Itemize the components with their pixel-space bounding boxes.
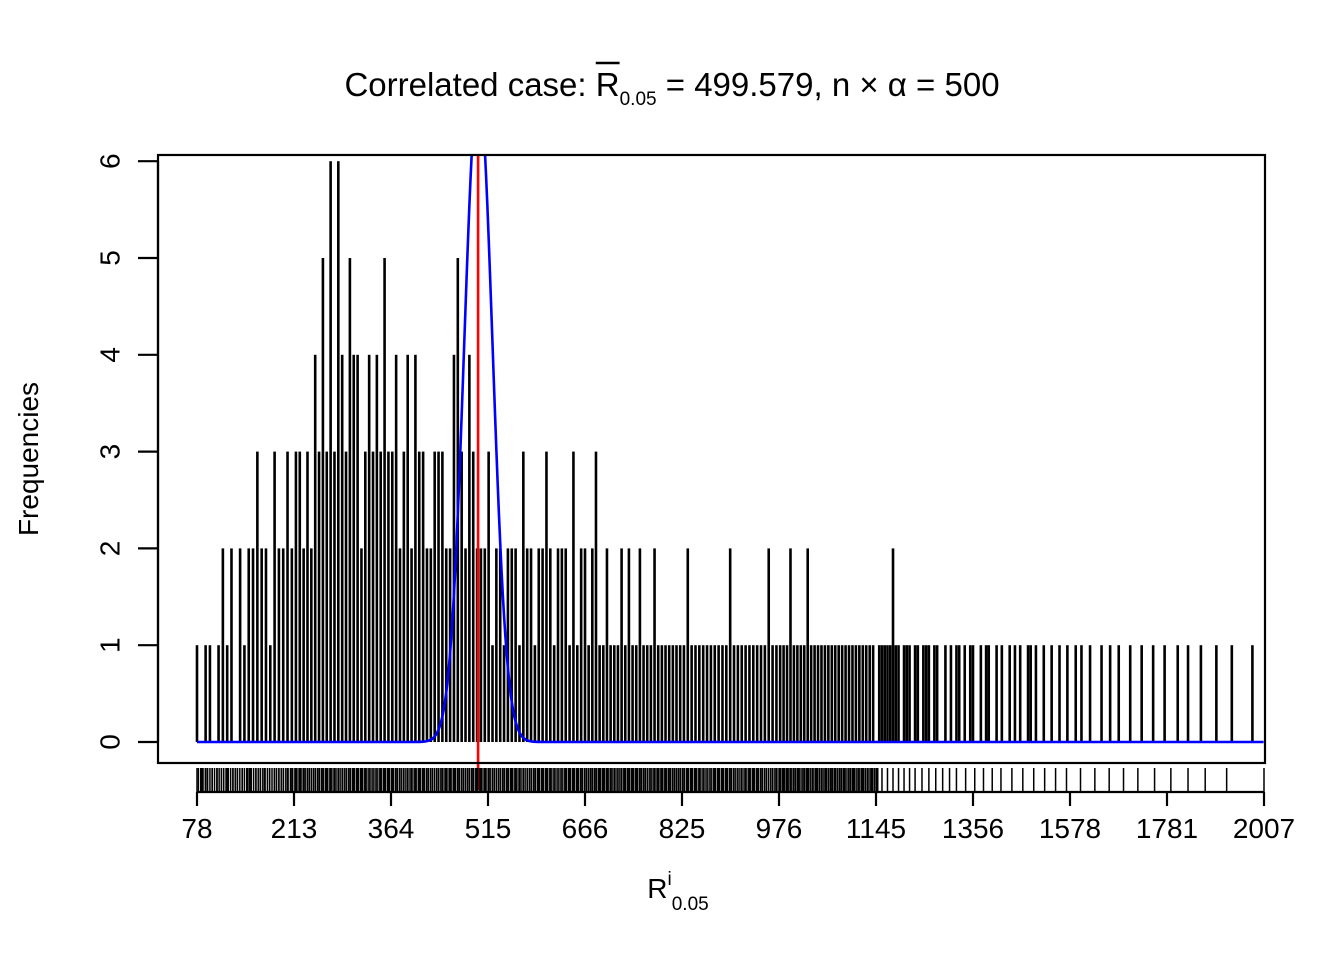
histogram-bar	[247, 548, 250, 742]
histogram-bar	[661, 645, 664, 742]
histogram-bar	[472, 452, 475, 742]
histogram-bar	[282, 548, 285, 742]
histogram-bar	[298, 452, 301, 742]
title-stat-value: 499.579	[694, 66, 813, 103]
histogram-bar	[445, 548, 448, 742]
histogram-bar	[372, 452, 375, 742]
histogram-bar	[922, 645, 925, 742]
histogram-bar	[764, 645, 767, 742]
x-axis-label-subscript: 0.05	[672, 894, 709, 915]
histogram-bar	[969, 645, 972, 742]
svg-text:Ri0.05: Ri0.05	[647, 869, 708, 915]
histogram-bar	[1231, 645, 1234, 742]
histogram-bar	[672, 645, 675, 742]
histogram-bar	[717, 645, 720, 742]
histogram-bar	[865, 645, 868, 742]
histogram-bar	[950, 645, 953, 742]
histogram-bar	[1029, 645, 1032, 742]
rug-plot	[197, 768, 1264, 792]
x-tick-label: 1145	[846, 813, 906, 844]
histogram-bar	[530, 548, 533, 742]
histogram-bar	[1109, 645, 1112, 742]
histogram-bar	[834, 645, 837, 742]
histogram-chart: Correlated case: R0.05 = 499.579, n × α …	[0, 0, 1344, 960]
histogram-bar	[855, 645, 858, 742]
histogram-bar	[441, 452, 444, 742]
histogram-bar	[985, 645, 988, 742]
y-axis: 0123456	[95, 153, 159, 749]
histogram-bar	[222, 548, 225, 742]
histogram-bar	[613, 645, 616, 742]
histogram-bar	[584, 548, 587, 742]
histogram-bar	[733, 645, 736, 742]
title-separator: ,	[813, 66, 831, 103]
histogram-bar	[1027, 645, 1030, 742]
histogram-bar	[740, 645, 743, 742]
histogram-bar	[252, 548, 255, 742]
histogram-bar	[1080, 645, 1083, 742]
histogram-bar	[406, 355, 409, 742]
histogram-bar	[349, 258, 352, 742]
histogram-bar	[376, 355, 379, 742]
histogram-bar	[196, 645, 199, 742]
histogram-bar	[958, 645, 961, 742]
histogram-bar	[1035, 645, 1038, 742]
histogram-bar	[491, 645, 494, 742]
histogram-bar	[230, 548, 233, 742]
histogram-bar	[480, 548, 483, 742]
histogram-bar	[302, 548, 305, 742]
histogram-bar	[1050, 645, 1053, 742]
x-axis-label: Ri0.05	[647, 869, 708, 915]
histogram-bar	[642, 645, 645, 742]
y-tick-label: 3	[95, 444, 126, 460]
histogram-bar	[894, 645, 897, 742]
histogram-bar	[414, 355, 417, 742]
histogram-bar	[903, 645, 906, 742]
histogram-bar	[862, 645, 865, 742]
histogram-bar	[690, 645, 693, 742]
histogram-bar	[1129, 645, 1132, 742]
histogram-bar	[881, 645, 884, 742]
y-tick-label: 2	[95, 541, 126, 557]
histogram-bar	[468, 355, 471, 742]
histogram-bar	[545, 452, 548, 742]
histogram-bar	[1100, 645, 1103, 742]
histogram-bar	[756, 645, 759, 742]
histogram-bar	[844, 645, 847, 742]
y-tick-label: 4	[95, 347, 126, 363]
title-equals-2: =	[907, 66, 945, 103]
histogram-bar	[1042, 645, 1045, 742]
histogram-bar	[487, 452, 490, 742]
histogram-bar	[725, 645, 728, 742]
x-axis: 7821336451566682597611451356157817812007	[181, 792, 1295, 844]
histogram-bar	[591, 548, 594, 742]
histogram-bar	[1140, 645, 1143, 742]
histogram-bar	[698, 645, 701, 742]
histogram-bar	[620, 548, 623, 742]
title-equals-1: =	[657, 66, 695, 103]
histogram-bar	[322, 258, 325, 742]
histogram-bar	[886, 645, 889, 742]
title-prefix: Correlated case:	[344, 66, 595, 103]
title-stat-symbol: R	[596, 66, 620, 103]
histogram-bar	[564, 548, 567, 742]
x-tick-label: 825	[659, 813, 706, 844]
histogram-bar	[329, 161, 332, 742]
histogram-bar	[868, 645, 871, 742]
histogram-bar	[721, 645, 724, 742]
histogram-bar	[1152, 645, 1155, 742]
histogram-bar	[653, 548, 656, 742]
histogram-bar	[426, 548, 429, 742]
histogram-bar	[824, 645, 827, 742]
histogram-bar	[925, 645, 928, 742]
histogram-bar	[345, 452, 348, 742]
histogram-bar	[204, 645, 207, 742]
histogram-bar	[883, 645, 886, 742]
histogram-bar	[286, 452, 289, 742]
histogram-bar	[337, 161, 340, 742]
histogram-bar	[702, 645, 705, 742]
histogram-bar	[848, 645, 851, 742]
histogram-bar	[1251, 645, 1254, 742]
histogram-bar	[602, 645, 605, 742]
histogram-bar	[858, 645, 861, 742]
histogram-bar	[522, 452, 525, 742]
histogram-bar	[325, 452, 328, 742]
histogram-bar	[914, 645, 917, 742]
histogram-bar	[368, 355, 371, 742]
histogram-bar	[789, 548, 792, 742]
histogram-bar	[851, 645, 854, 742]
histogram-bar	[679, 645, 682, 742]
histogram-bar	[483, 548, 486, 742]
histogram-bar	[364, 452, 367, 742]
histogram-bar	[906, 645, 909, 742]
histogram-bar	[657, 645, 660, 742]
x-tick-label: 515	[465, 813, 512, 844]
histogram-bar	[635, 645, 638, 742]
histogram-bar	[391, 452, 394, 742]
histogram-bar	[422, 452, 425, 742]
title-stat-subscript: 0.05	[620, 89, 657, 110]
histogram-bar	[568, 645, 571, 742]
histogram-bar	[987, 645, 990, 742]
histogram-bar	[572, 452, 575, 742]
histogram-bar	[1019, 645, 1022, 742]
histogram-bar	[737, 645, 740, 742]
histogram-bar	[729, 548, 732, 742]
histogram-bar	[963, 645, 966, 742]
histogram-bar	[606, 548, 609, 742]
x-tick-label: 364	[368, 813, 415, 844]
histogram-bar	[598, 645, 601, 742]
histogram-bar	[278, 548, 281, 742]
histogram-bar	[395, 355, 398, 742]
histogram-bar	[775, 645, 778, 742]
histogram-bar	[1187, 645, 1190, 742]
histogram-bar	[650, 645, 653, 742]
histogram-bar	[503, 645, 506, 742]
histogram-bar	[897, 645, 900, 742]
histogram-bar	[628, 548, 631, 742]
histogram-bar	[403, 452, 406, 742]
histogram-bar	[694, 645, 697, 742]
histogram-bar	[418, 452, 421, 742]
histogram-bar	[639, 548, 642, 742]
histogram-bar	[1176, 645, 1179, 742]
histogram-bar	[464, 548, 467, 742]
histogram-bar	[686, 548, 689, 742]
histogram-bar	[803, 645, 806, 742]
plot-figure: Correlated case: R0.05 = 499.579, n × α …	[0, 0, 1344, 960]
histogram-bar	[352, 355, 355, 742]
histogram-bar	[646, 645, 649, 742]
histogram-bar	[541, 548, 544, 742]
histogram-bars	[196, 161, 1254, 742]
histogram-bar	[534, 645, 537, 742]
histogram-bar	[209, 645, 212, 742]
histogram-bar	[609, 645, 612, 742]
histogram-bar	[256, 452, 259, 742]
histogram-bar	[664, 645, 667, 742]
histogram-bar	[878, 645, 881, 742]
histogram-bar	[748, 645, 751, 742]
histogram-bar	[980, 645, 983, 742]
histogram-bar	[295, 452, 298, 742]
x-tick-label: 1356	[942, 813, 1004, 844]
histogram-bar	[796, 645, 799, 742]
histogram-bar	[333, 452, 336, 742]
histogram-bar	[837, 645, 840, 742]
histogram-bar	[453, 355, 456, 742]
histogram-bar	[752, 645, 755, 742]
histogram-bar	[928, 645, 931, 742]
histogram-bar	[995, 645, 998, 742]
histogram-bar	[806, 548, 809, 742]
histogram-bar	[744, 645, 747, 742]
histogram-bar	[827, 645, 830, 742]
title-times: ×	[850, 66, 888, 103]
histogram-bar	[1200, 645, 1203, 742]
chart-title: Correlated case: R0.05 = 499.579, n × α …	[344, 63, 999, 110]
histogram-bar	[683, 645, 686, 742]
histogram-bar	[537, 548, 540, 742]
histogram-bar	[767, 548, 770, 742]
histogram-bar	[460, 452, 463, 742]
histogram-bar	[383, 258, 386, 742]
x-tick-label: 213	[271, 813, 318, 844]
histogram-bar	[972, 645, 975, 742]
x-tick-label: 976	[756, 813, 803, 844]
title-param-value: 500	[944, 66, 999, 103]
histogram-bar	[243, 645, 246, 742]
histogram-bar	[1215, 645, 1218, 742]
x-axis-label-symbol: R	[647, 873, 667, 904]
histogram-bar	[936, 645, 939, 742]
y-axis-label: Frequencies	[13, 382, 44, 536]
histogram-bar	[265, 548, 268, 742]
histogram-bar	[631, 645, 634, 742]
title-param-n: n	[832, 66, 850, 103]
histogram-bar	[430, 548, 433, 742]
histogram-bar	[314, 355, 317, 742]
histogram-bar	[387, 452, 390, 742]
y-tick-label: 1	[95, 637, 126, 653]
histogram-bar	[786, 645, 789, 742]
histogram-bar	[306, 452, 309, 742]
histogram-bar	[595, 452, 598, 742]
histogram-bar	[557, 548, 560, 742]
histogram-bar	[587, 645, 590, 742]
histogram-bar	[892, 548, 895, 742]
histogram-bar	[561, 548, 564, 742]
x-tick-label: 1781	[1136, 813, 1198, 844]
histogram-bar	[668, 645, 671, 742]
histogram-bar	[437, 452, 440, 742]
histogram-bar	[955, 645, 958, 742]
histogram-bar	[617, 645, 620, 742]
histogram-bar	[820, 645, 823, 742]
histogram-bar	[269, 645, 272, 742]
histogram-bar	[908, 645, 911, 742]
histogram-bar	[291, 548, 294, 742]
histogram-bar	[379, 452, 382, 742]
x-tick-label: 666	[562, 813, 609, 844]
histogram-bar	[831, 645, 834, 742]
histogram-bar	[273, 452, 276, 742]
histogram-bar	[793, 645, 796, 742]
histogram-bar	[760, 645, 763, 742]
x-tick-label: 1578	[1039, 813, 1101, 844]
histogram-bar	[310, 548, 313, 742]
histogram-bar	[260, 548, 263, 742]
histogram-bar	[226, 645, 229, 742]
histogram-bar	[779, 645, 782, 742]
histogram-bar	[706, 645, 709, 742]
histogram-bar	[399, 548, 402, 742]
histogram-bar	[933, 645, 936, 742]
histogram-bar	[1089, 645, 1092, 742]
histogram-bar	[1074, 645, 1077, 742]
histogram-bar	[318, 452, 321, 742]
histogram-bar	[217, 645, 220, 742]
title-param-alpha: α	[888, 66, 907, 103]
x-tick-label: 2007	[1233, 813, 1295, 844]
histogram-bar	[410, 548, 413, 742]
histogram-bar	[944, 645, 947, 742]
x-tick-label: 78	[181, 813, 212, 844]
histogram-bar	[917, 645, 920, 742]
histogram-bar	[356, 355, 359, 742]
histogram-bar	[580, 548, 583, 742]
x-axis-label-superscript: i	[668, 869, 672, 890]
histogram-bar	[817, 645, 820, 742]
histogram-bar	[782, 645, 785, 742]
histogram-bar	[1117, 645, 1120, 742]
histogram-bar	[526, 548, 529, 742]
histogram-bar	[1014, 645, 1017, 742]
histogram-bar	[1163, 645, 1166, 742]
histogram-bar	[810, 645, 813, 742]
histogram-bar	[771, 645, 774, 742]
histogram-bar	[1058, 645, 1061, 742]
y-tick-label: 5	[95, 250, 126, 266]
svg-text:Correlated case: R0.05 = 499.5: Correlated case: R0.05 = 499.579, n × α …	[344, 66, 999, 110]
histogram-bar	[576, 645, 579, 742]
histogram-bar	[1008, 645, 1011, 742]
histogram-bar	[433, 452, 436, 742]
histogram-bar	[800, 645, 803, 742]
histogram-bar	[889, 645, 892, 742]
histogram-bar	[549, 548, 552, 742]
histogram-bar	[1066, 645, 1069, 742]
histogram-bar	[341, 355, 344, 742]
y-tick-label: 0	[95, 734, 126, 750]
histogram-bar	[360, 548, 363, 742]
histogram-bar	[713, 645, 716, 742]
histogram-bar	[675, 645, 678, 742]
histogram-bar	[813, 645, 816, 742]
histogram-bar	[624, 645, 627, 742]
histogram-bar	[553, 645, 556, 742]
histogram-bar	[239, 548, 242, 742]
histogram-bar	[495, 548, 498, 742]
histogram-bar	[841, 645, 844, 742]
histogram-bar	[1001, 645, 1004, 742]
y-tick-label: 6	[95, 153, 126, 169]
histogram-bar	[710, 645, 713, 742]
histogram-bar	[872, 645, 875, 742]
